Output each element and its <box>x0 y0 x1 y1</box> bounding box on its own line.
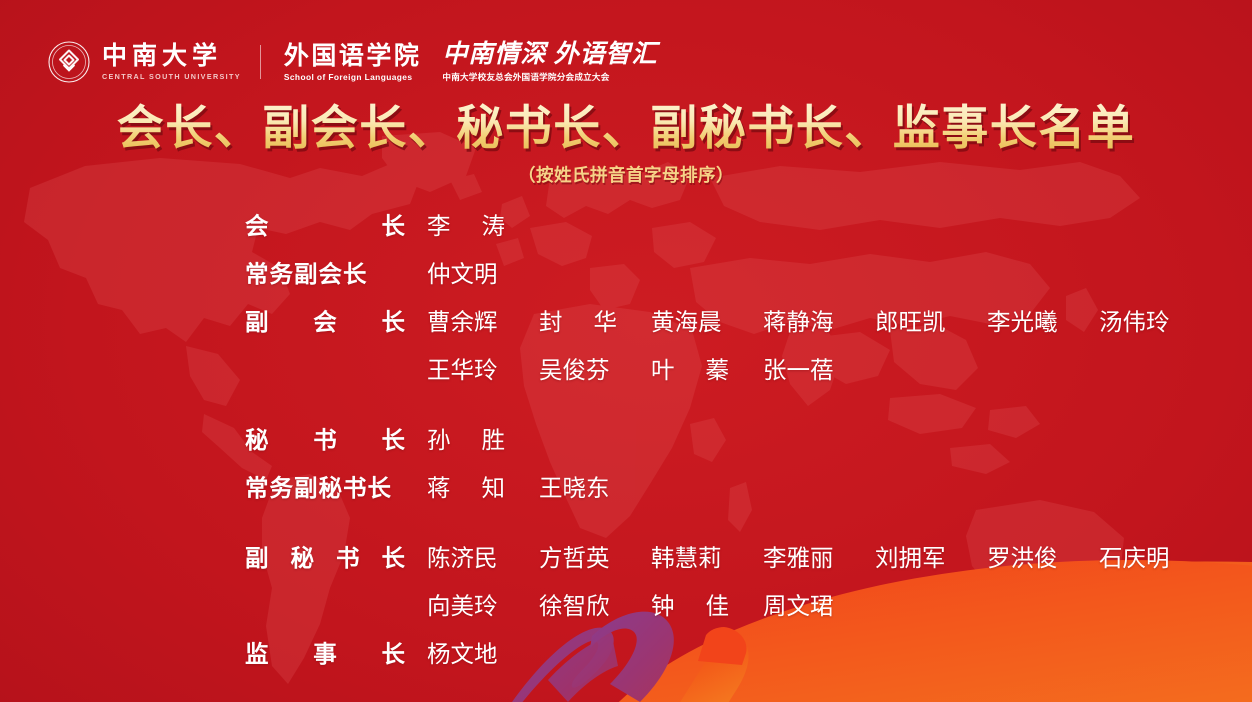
roster-row-names: 孙胜 <box>427 416 1252 464</box>
roster-name: 吴俊芬 <box>539 346 651 394</box>
roster-name: 周文珺 <box>763 582 875 630</box>
slide-canvas: 中南大学 CENTRAL SOUTH UNIVERSITY 外国语学院 Scho… <box>0 0 1252 702</box>
roster-row-names: 李涛 <box>427 202 1252 250</box>
roster-row-title: 秘书长 <box>245 416 427 464</box>
roster-name: 李光曦 <box>987 298 1099 346</box>
roster-row-title: 常务副秘书长 <box>245 464 427 512</box>
roster-name-spacer <box>875 346 987 394</box>
roster-row: 副秘书长陈济民方哲英韩慧莉李雅丽刘拥军罗洪俊石庆明向美玲徐智欣钟佳周文珺 <box>245 534 1252 630</box>
roster-name: 叶蓁 <box>651 346 763 394</box>
roster-gap <box>245 512 1252 534</box>
brand-header: 中南大学 CENTRAL SOUTH UNIVERSITY 外国语学院 Scho… <box>48 38 658 86</box>
roster-name: 李雅丽 <box>763 534 875 582</box>
roster-row: 会长李涛 <box>245 202 1252 250</box>
roster-name: 王华玲 <box>427 346 539 394</box>
roster-name: 徐智欣 <box>539 582 651 630</box>
roster-name: 刘拥军 <box>875 534 987 582</box>
university-name-cn: 中南大学 <box>102 43 241 70</box>
roster-list: 会长李涛常务副会长仲文明副会长曹余辉封华黄海晨蒋静海郎旺凯李光曦汤伟玲王华玲吴俊… <box>245 202 1252 678</box>
school-name-en: School of Foreign Languages <box>284 72 422 82</box>
roster-name: 石庆明 <box>1099 534 1211 582</box>
roster-name: 钟佳 <box>651 582 763 630</box>
slogan-block: 中南情深 外语智汇 中南大学校友总会外国语学院分会成立大会 <box>442 41 657 83</box>
slogan-cn: 中南情深 外语智汇 <box>442 41 657 68</box>
roster-row-names: 杨文地 <box>427 630 1252 678</box>
roster-name: 陈济民 <box>427 534 539 582</box>
roster-row-title: 副会长 <box>245 298 427 346</box>
roster-row-names: 曹余辉封华黄海晨蒋静海郎旺凯李光曦汤伟玲王华玲吴俊芬叶蓁张一蓓 <box>427 298 1252 394</box>
roster-name: 郎旺凯 <box>875 298 987 346</box>
title-area: 会长、副会长、秘书长、副秘书长、监事长名单 （按姓氏拼音首字母排序） <box>0 100 1252 187</box>
roster-row: 常务副会长仲文明 <box>245 250 1252 298</box>
page-subtitle: （按姓氏拼音首字母排序） <box>0 162 1252 187</box>
roster-name: 汤伟玲 <box>1099 298 1211 346</box>
roster-name: 曹余辉 <box>427 298 539 346</box>
roster-row-title: 监事长 <box>245 630 427 678</box>
roster-gap <box>245 394 1252 416</box>
roster-name: 张一蓓 <box>763 346 875 394</box>
roster-row: 常务副秘书长蒋知王晓东 <box>245 464 1252 512</box>
roster-name: 韩慧莉 <box>651 534 763 582</box>
roster-row-names: 蒋知王晓东 <box>427 464 1252 512</box>
roster-name: 李涛 <box>427 202 539 250</box>
university-crest-icon <box>48 41 90 83</box>
roster-name: 蒋知 <box>427 464 539 512</box>
roster-name: 封华 <box>539 298 651 346</box>
roster-row: 监事长杨文地 <box>245 630 1252 678</box>
roster-name: 方哲英 <box>539 534 651 582</box>
roster-name-spacer <box>875 582 987 630</box>
page-title: 会长、副会长、秘书长、副秘书长、监事长名单 <box>117 100 1136 155</box>
roster-row-title: 副秘书长 <box>245 534 427 582</box>
roster-name: 杨文地 <box>427 630 539 678</box>
roster-name: 罗洪俊 <box>987 534 1099 582</box>
roster-name: 仲文明 <box>427 250 539 298</box>
roster-row-names: 陈济民方哲英韩慧莉李雅丽刘拥军罗洪俊石庆明向美玲徐智欣钟佳周文珺 <box>427 534 1252 630</box>
roster-name: 孙胜 <box>427 416 539 464</box>
roster-row: 副会长曹余辉封华黄海晨蒋静海郎旺凯李光曦汤伟玲王华玲吴俊芬叶蓁张一蓓 <box>245 298 1252 394</box>
header-divider <box>260 45 261 79</box>
roster-row-title: 会长 <box>245 202 427 250</box>
roster-row-title: 常务副会长 <box>245 250 427 298</box>
school-name-cn: 外国语学院 <box>284 43 422 70</box>
roster-name: 向美玲 <box>427 582 539 630</box>
roster-name: 黄海晨 <box>651 298 763 346</box>
roster-row-names: 仲文明 <box>427 250 1252 298</box>
slogan-subtitle: 中南大学校友总会外国语学院分会成立大会 <box>442 71 657 83</box>
roster-name: 蒋静海 <box>763 298 875 346</box>
school-name-block: 外国语学院 School of Foreign Languages <box>284 43 422 82</box>
university-name-block: 中南大学 CENTRAL SOUTH UNIVERSITY <box>102 43 241 81</box>
roster-name: 王晓东 <box>539 464 651 512</box>
university-name-en: CENTRAL SOUTH UNIVERSITY <box>102 72 241 81</box>
roster-row: 秘书长孙胜 <box>245 416 1252 464</box>
